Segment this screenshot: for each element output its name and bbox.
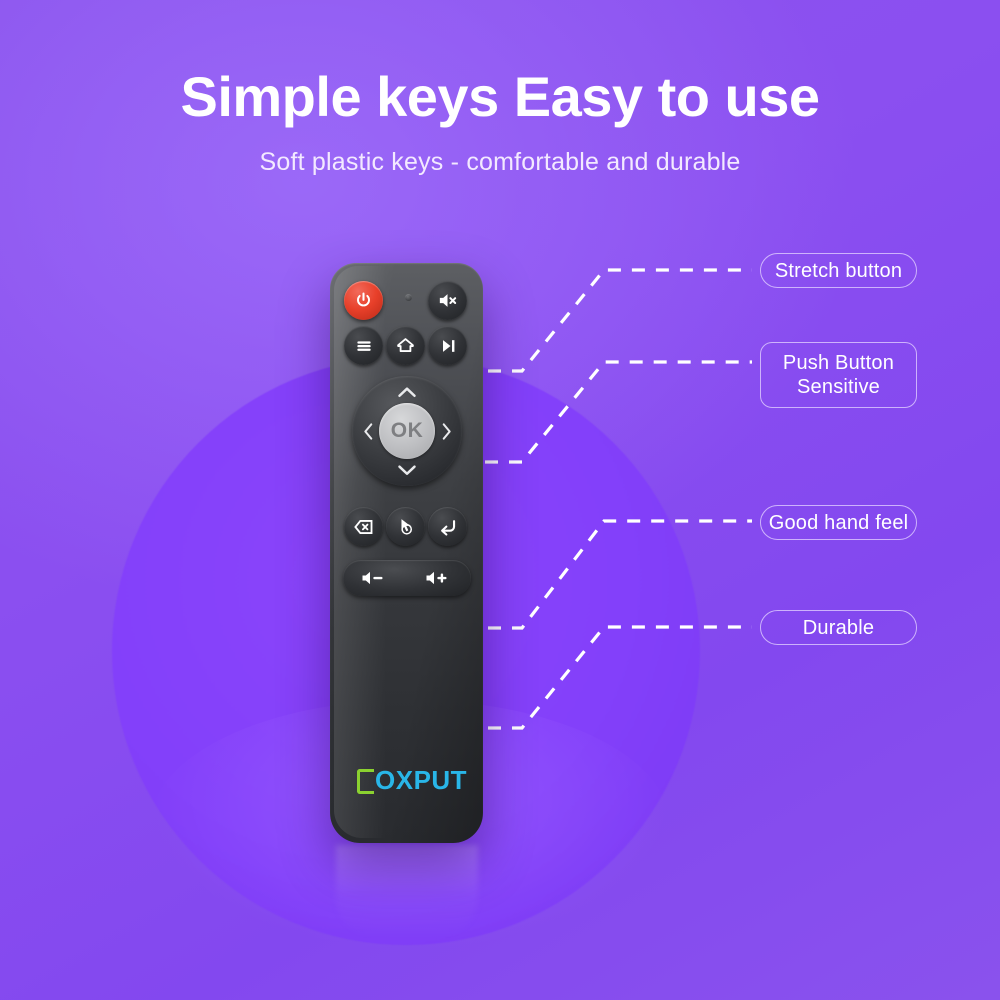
- dpad-ok-button[interactable]: OK: [379, 403, 435, 459]
- volume-down-icon: [360, 568, 390, 588]
- return-arrow-icon: [437, 516, 459, 538]
- page-subtitle: Soft plastic keys - comfortable and dura…: [0, 148, 1000, 177]
- volume-up-icon: [424, 568, 454, 588]
- home-button[interactable]: [386, 326, 425, 365]
- air-mouse-button[interactable]: [386, 507, 425, 546]
- dpad-ring[interactable]: OK: [352, 376, 462, 486]
- led-indicator-icon: [405, 294, 412, 301]
- remote-reflection: [336, 845, 478, 937]
- chevron-left-icon: [362, 422, 375, 441]
- callout-label: Push Button Sensitive: [761, 351, 916, 399]
- callout-push-button-sensitive[interactable]: Push Button Sensitive: [760, 342, 917, 408]
- mute-icon: [436, 289, 459, 312]
- power-button[interactable]: [344, 281, 383, 320]
- callout-label: Durable: [803, 616, 874, 640]
- chevron-down-icon: [397, 463, 417, 477]
- brand-logo-text: OXPUT: [375, 767, 467, 793]
- dpad-down-button[interactable]: [395, 460, 419, 480]
- menu-icon: [354, 336, 374, 356]
- dpad-left-button[interactable]: [358, 419, 378, 443]
- callout-good-hand-feel[interactable]: Good hand feel: [760, 505, 917, 540]
- play-pause-icon: [438, 336, 458, 356]
- backspace-icon: [353, 516, 375, 538]
- power-icon: [354, 291, 373, 310]
- chevron-up-icon: [397, 385, 417, 399]
- dpad-right-button[interactable]: [436, 419, 456, 443]
- promo-image-canvas: Simple keys Easy to use Soft plastic key…: [0, 0, 1000, 1000]
- callout-label: Good hand feel: [769, 511, 909, 535]
- callout-label: Stretch button: [775, 259, 902, 283]
- mouse-pointer-icon: [395, 516, 416, 537]
- mute-button[interactable]: [428, 281, 467, 320]
- delete-button[interactable]: [344, 507, 383, 546]
- back-button[interactable]: [428, 507, 467, 546]
- brand-logo-mark-icon: [357, 769, 374, 794]
- page-title: Simple keys Easy to use: [0, 68, 1000, 127]
- dpad-up-button[interactable]: [395, 382, 419, 402]
- remote-control-body: OK: [330, 263, 483, 843]
- volume-rocker[interactable]: [343, 560, 471, 596]
- callout-durable[interactable]: Durable: [760, 610, 917, 645]
- chevron-right-icon: [440, 422, 453, 441]
- menu-button[interactable]: [344, 326, 383, 365]
- play-pause-button[interactable]: [428, 326, 467, 365]
- callout-stretch-button[interactable]: Stretch button: [760, 253, 917, 288]
- brand-logo: OXPUT: [357, 765, 467, 797]
- home-icon: [395, 335, 416, 356]
